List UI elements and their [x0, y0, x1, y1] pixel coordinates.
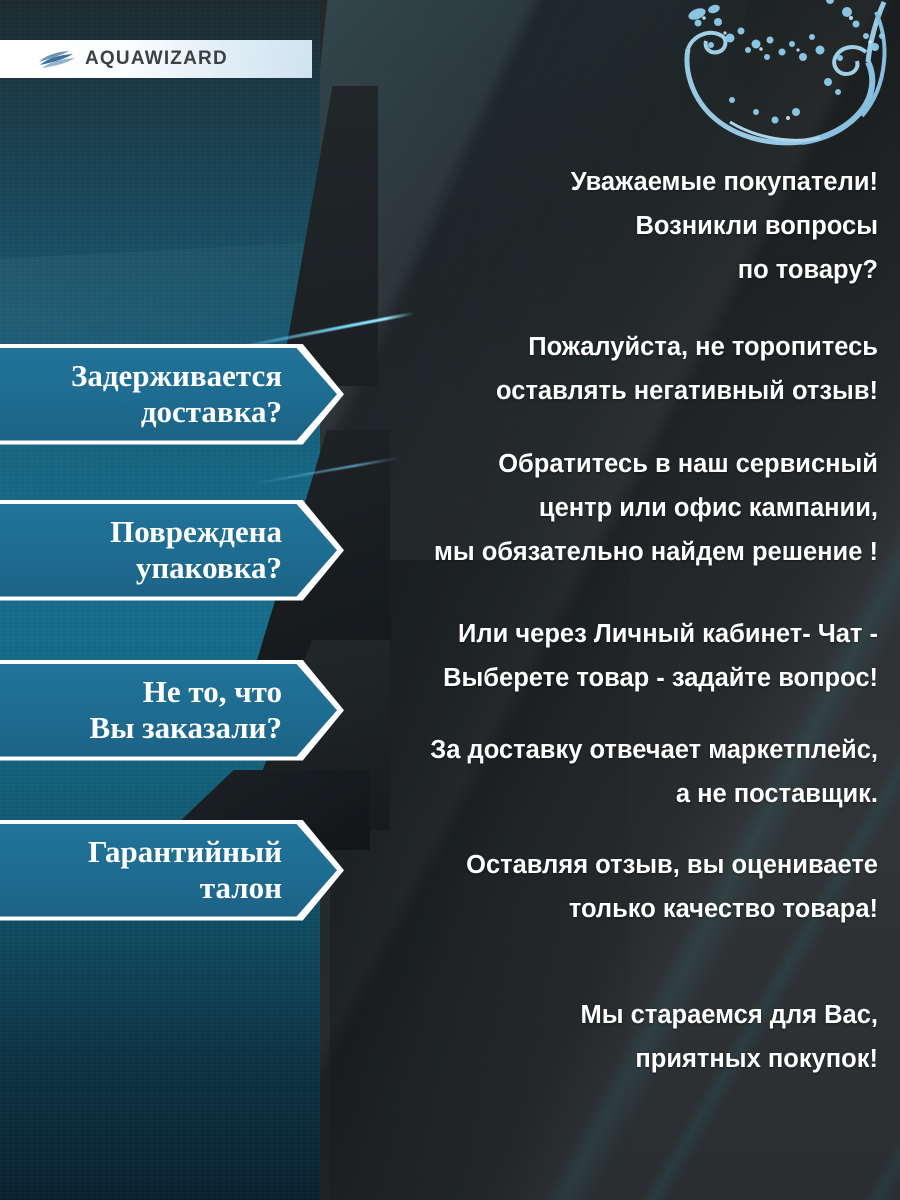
infographic-canvas: AQUAWIZARD Задерживается доставка? Повре…	[0, 0, 900, 1200]
banner-packaging-damaged[interactable]: Повреждена упаковка?	[0, 500, 344, 601]
brand-name: AQUAWIZARD	[85, 48, 228, 70]
logo-inner: AQUAWIZARD	[0, 48, 228, 70]
banner-label: Не то, что Вы заказали?	[0, 660, 344, 761]
message-review-scope: Оставляя отзыв, вы оцениваете только кач…	[318, 843, 878, 931]
banner-delivery-delayed[interactable]: Задерживается доставка?	[0, 344, 344, 445]
banner-warranty-card[interactable]: Гарантийный талон	[0, 820, 344, 921]
message-closing: Мы стараемся для Вас, приятных покупок!	[318, 993, 878, 1081]
banner-label: Гарантийный талон	[0, 820, 344, 921]
message-greeting: Уважаемые покупатели! Возникли вопросы п…	[318, 160, 878, 292]
message-no-rush-review: Пожалуйста, не торопитесь оставлять нега…	[318, 325, 878, 413]
message-delivery-owner: За доставку отвечает маркетплейс, а не п…	[318, 728, 878, 816]
brand-logo-bar[interactable]: AQUAWIZARD	[0, 40, 312, 78]
banner-label: Задерживается доставка?	[0, 344, 344, 445]
message-column: Уважаемые покупатели! Возникли вопросы п…	[330, 0, 900, 1200]
banner-label: Повреждена упаковка?	[0, 500, 344, 601]
message-contact-service: Обратитесь в наш сервисный центр или офи…	[318, 442, 878, 574]
wave-icon	[38, 49, 76, 69]
message-chat-path: Или через Личный кабинет- Чат - Выберете…	[318, 612, 878, 700]
banner-wrong-item[interactable]: Не то, что Вы заказали?	[0, 660, 344, 761]
